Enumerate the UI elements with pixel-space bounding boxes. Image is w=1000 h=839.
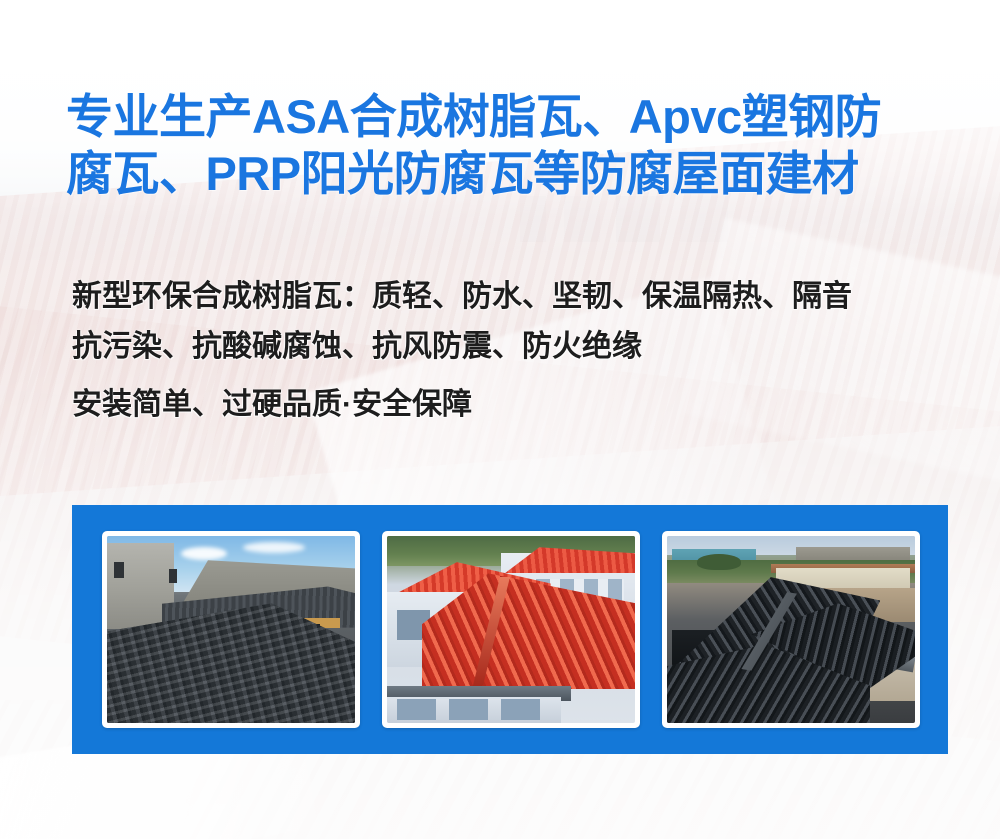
feature-subtitle: 新型环保合成树脂瓦：质轻、防水、坚韧、保温隔热、隔音 抗污染、抗酸碱腐蚀、抗风防… <box>72 272 962 430</box>
photo1-cloud-icon-2 <box>243 542 305 553</box>
photo-frame-2[interactable] <box>382 531 640 728</box>
subtitle-line-1: 新型环保合成树脂瓦：质轻、防水、坚韧、保温隔热、隔音 <box>72 272 962 322</box>
photo-frame-3[interactable] <box>662 531 920 728</box>
red-resin-tile-roof-photo <box>387 536 635 723</box>
photo-gallery-panel <box>72 505 948 754</box>
grey-resin-tile-roof-photo <box>107 536 355 723</box>
headline-line-2: 腐瓦、PRP阳光防腐瓦等防腐屋面建材 <box>66 145 946 202</box>
photo2-lower-wall <box>387 697 561 723</box>
black-resin-tile-roof-photo <box>667 536 915 723</box>
subtitle-line-2: 抗污染、抗酸碱腐蚀、抗风防震、防火绝缘 <box>72 322 962 372</box>
subtitle-line-3: 安装简单、过硬品质·安全保障 <box>72 380 962 430</box>
photo-frame-1[interactable] <box>102 531 360 728</box>
headline-line-1: 专业生产ASA合成树脂瓦、Apvc塑钢防 <box>66 88 946 145</box>
product-banner: 专业生产ASA合成树脂瓦、Apvc塑钢防 腐瓦、PRP阳光防腐瓦等防腐屋面建材 … <box>0 0 1000 839</box>
page-title: 专业生产ASA合成树脂瓦、Apvc塑钢防 腐瓦、PRP阳光防腐瓦等防腐屋面建材 <box>66 88 946 202</box>
